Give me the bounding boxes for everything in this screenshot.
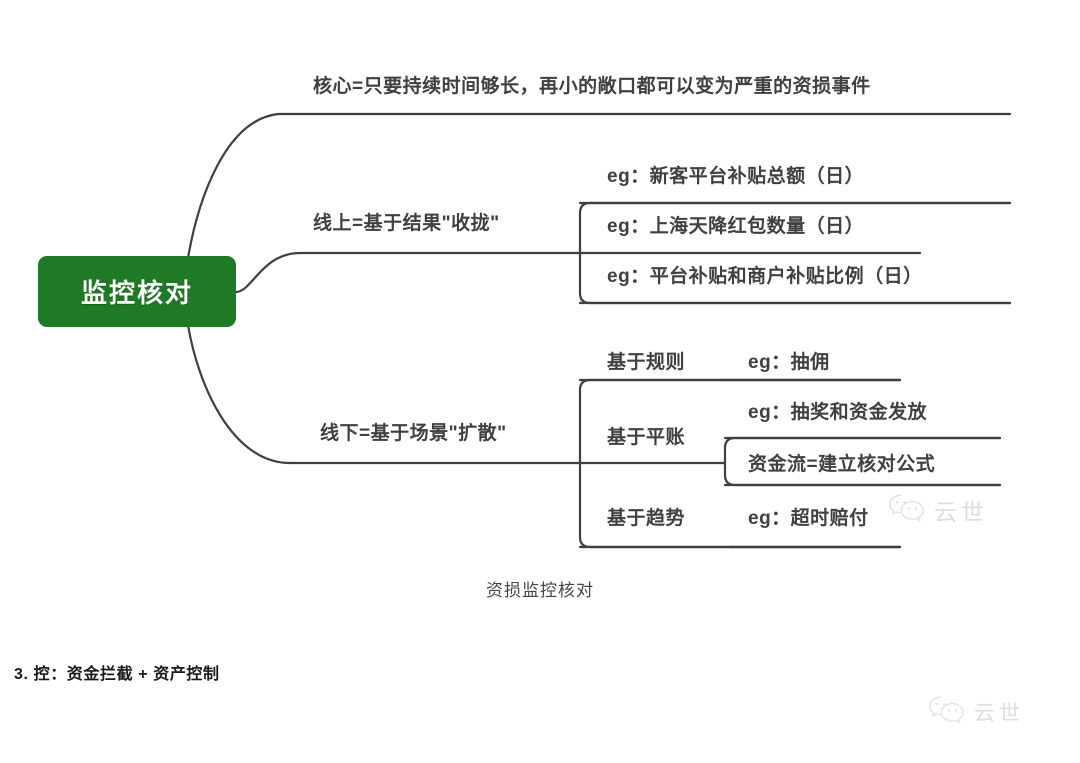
watermark-bottom: 云世 [928,694,1024,729]
node-offline-rule: 基于规则 [607,353,685,372]
section-heading: 3. 控：资金拦截 + 资产控制 [14,660,220,684]
node-eg-timeout-compensation: eg：超时赔付 [748,509,869,528]
node-top-note: 核心=只要持续时间够长，再小的敞口都可以变为严重的资损事件 [313,77,871,96]
node-offline-balance: 基于平账 [607,428,685,447]
connector-root-to-top-note [188,114,1010,258]
node-branch-offline: 线下=基于场景"扩散" [320,424,507,443]
node-online-item-3: eg：平台补贴和商户补贴比例（日） [607,267,923,286]
figure-caption: 资损监控核对 [0,576,1080,601]
node-fund-flow-formula: 资金流=建立核对公式 [748,455,935,474]
node-branch-online: 线上=基于结果"收拢" [313,214,500,233]
root-node-label: 监控核对 [81,273,193,310]
node-offline-trend: 基于趋势 [607,509,685,528]
connector-root-to-online [236,253,580,292]
node-eg-lottery-fund: eg：抽奖和资金发放 [748,403,927,422]
watermark-text: 云世 [974,697,1024,727]
wechat-icon [928,694,966,729]
node-eg-commission: eg：抽佣 [748,353,830,372]
root-node[interactable]: 监控核对 [38,256,236,327]
node-online-item-2: eg：上海天降红包数量（日） [607,217,864,236]
mindmap-diagram: 监控核对 核心=只要持续时间够长，再小的敞口都可以变为严重的资损事件 线上=基于… [0,0,1080,620]
node-online-item-1: eg：新客平台补贴总额（日） [607,167,864,186]
